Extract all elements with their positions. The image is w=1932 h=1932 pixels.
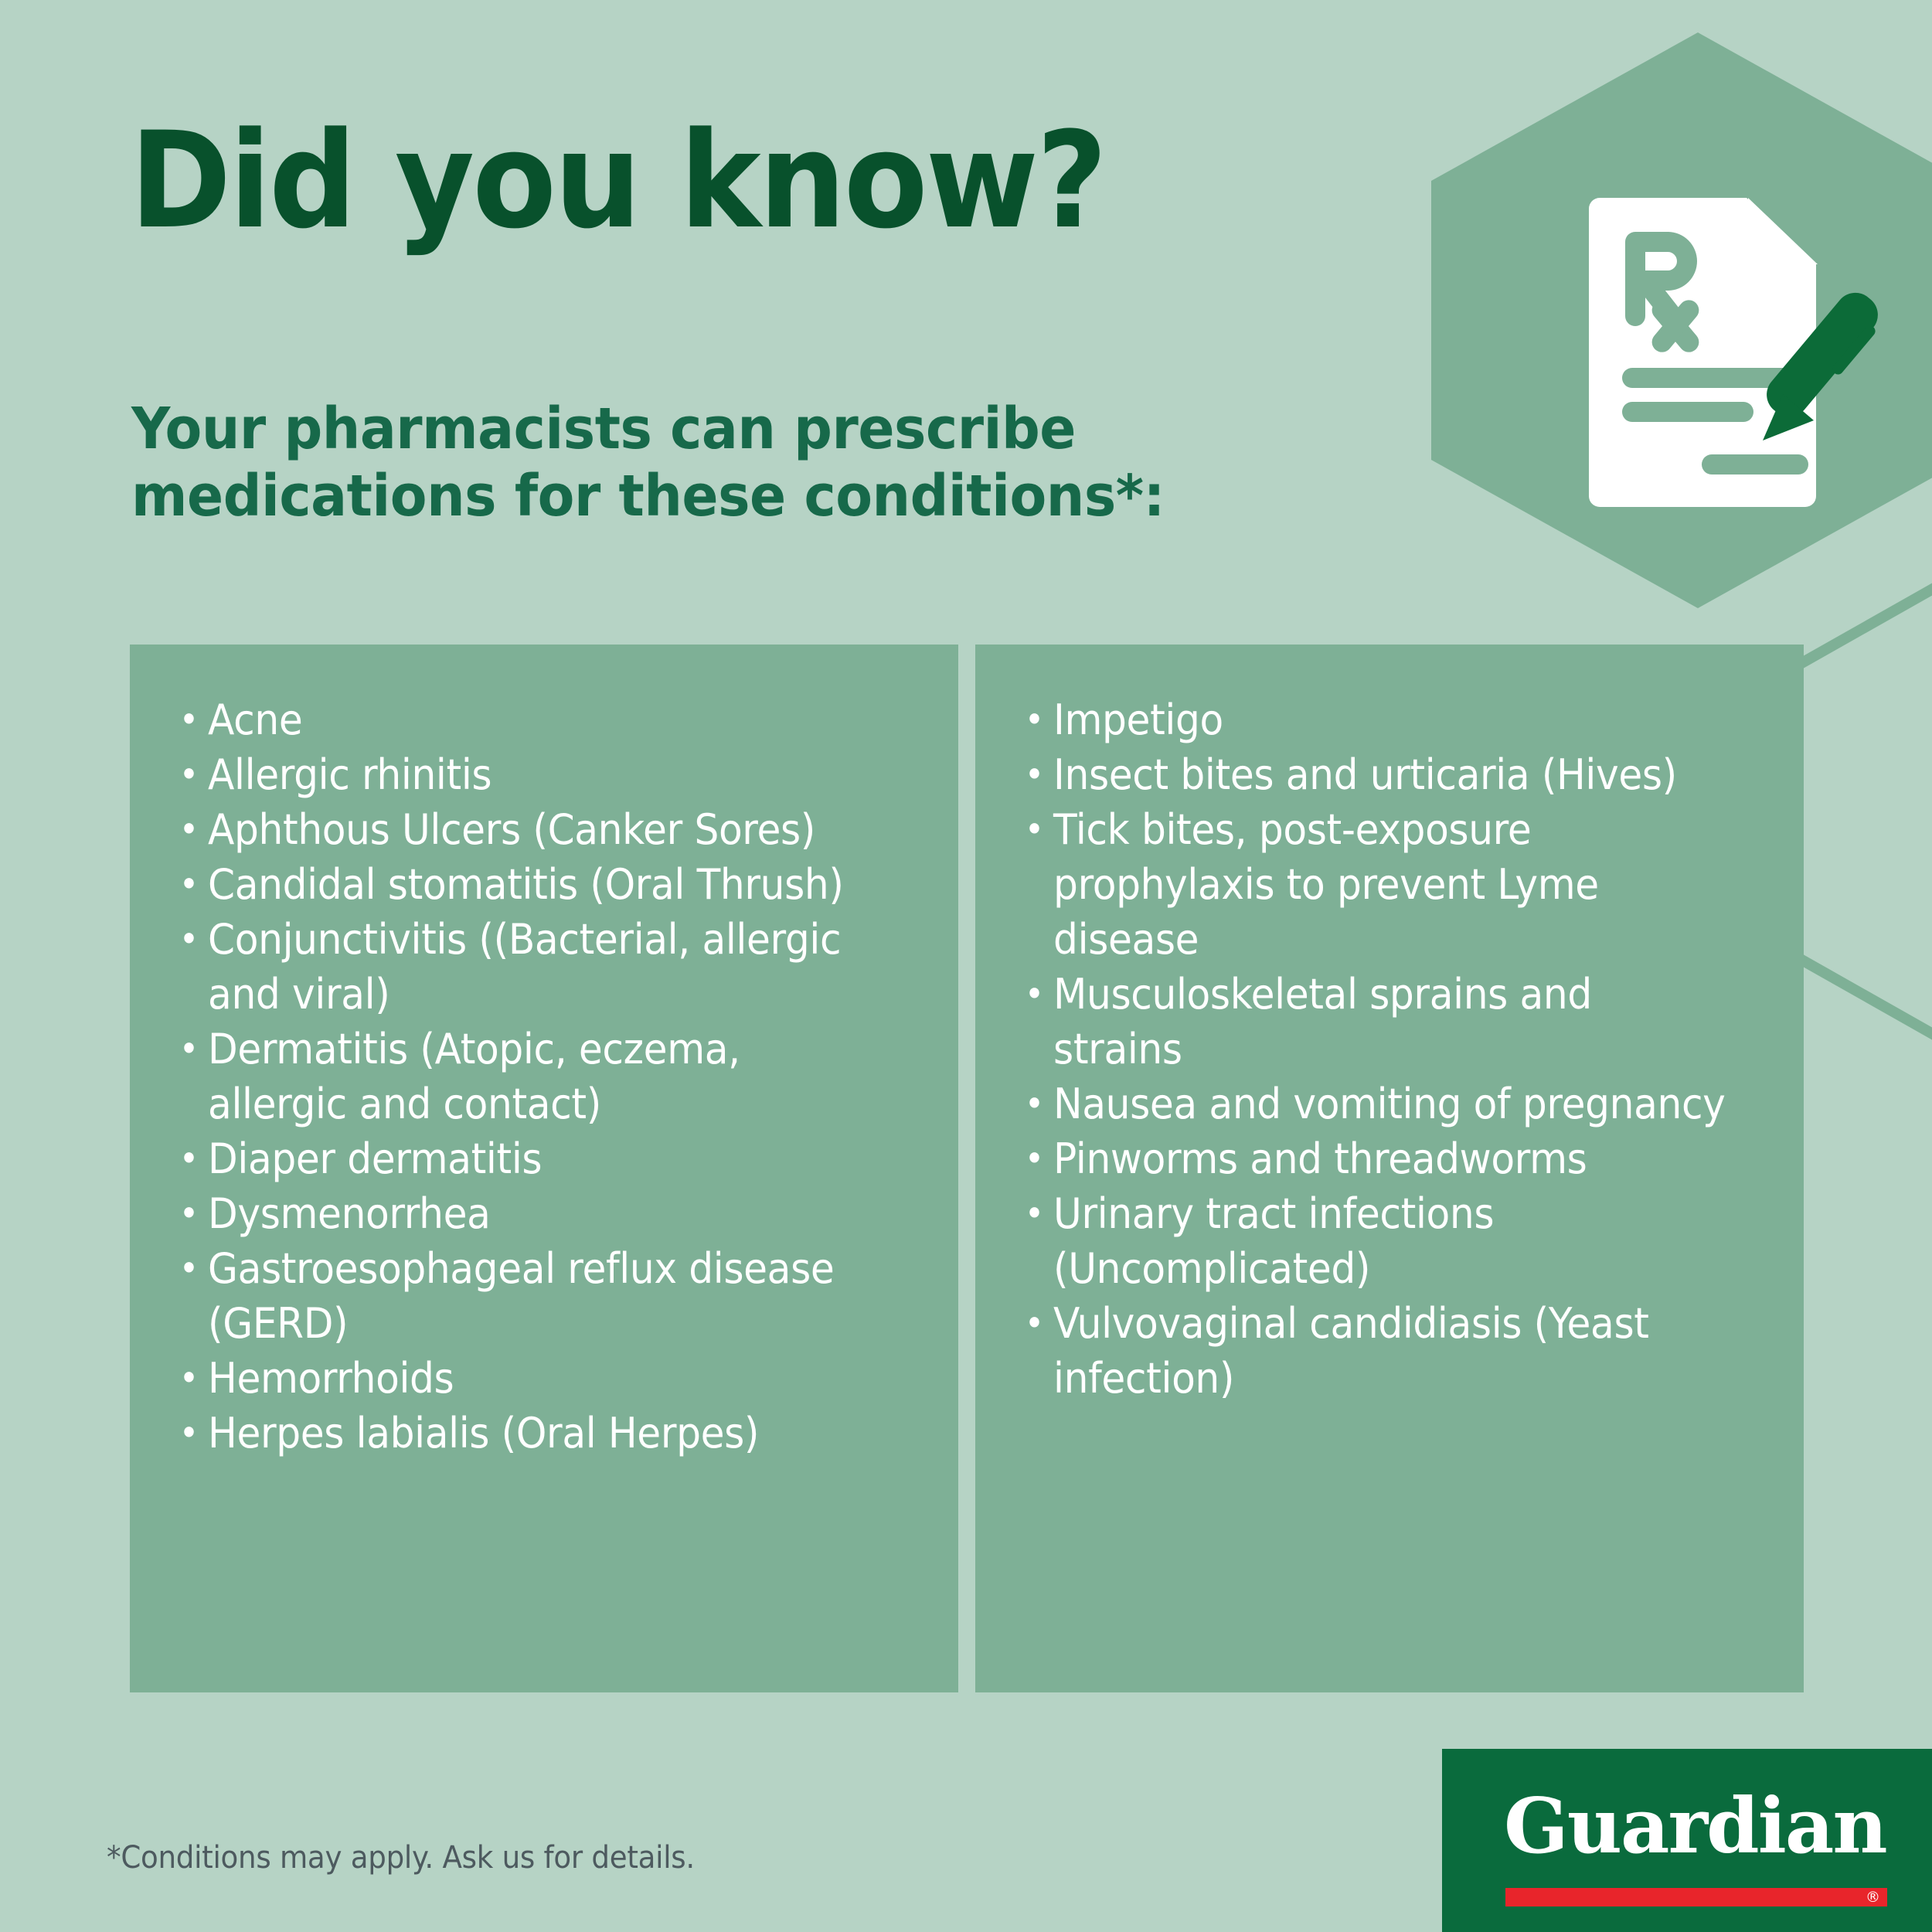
list-item: Dermatitis (Atopic, eczema, allergic and… [178, 1022, 875, 1131]
rx-r-leg [1640, 278, 1690, 335]
rx-r-stem [1625, 232, 1645, 326]
document-line-1 [1622, 368, 1806, 388]
pen-tip [1763, 394, 1814, 440]
document-shape [1589, 198, 1816, 507]
rx-x-stroke-1 [1648, 296, 1702, 356]
pen-icon [1758, 284, 1886, 440]
conditions-list-left: AcneAllergic rhinitisAphthous Ulcers (Ca… [178, 692, 927, 1461]
rx-x-stroke-2 [1648, 296, 1702, 356]
document-signature-line [1702, 454, 1808, 474]
document-line-2 [1622, 402, 1753, 422]
list-item: Hemorrhoids [178, 1351, 875, 1406]
list-item: Urinary tract infections (Uncomplicated) [1023, 1186, 1730, 1296]
pen-clip [1831, 324, 1878, 377]
page-subtitle: Your pharmacists can prescribe medicatio… [131, 396, 1264, 531]
list-item: Gastroesophageal reflux disease (GERD) [178, 1241, 875, 1351]
page-subtitle-line-2: medications for these conditions*: [131, 463, 1264, 530]
list-item: Acne [178, 692, 875, 747]
list-item: Conjunctivitis ((Bacterial, allergic and… [178, 912, 875, 1022]
list-item: Herpes labialis (Oral Herpes) [178, 1406, 875, 1461]
list-item: Pinworms and threadworms [1023, 1131, 1730, 1186]
footnote-text: *Conditions may apply. Ask us for detail… [107, 1840, 695, 1876]
list-item: Dysmenorrhea [178, 1186, 875, 1241]
list-item: Nausea and vomiting of pregnancy [1023, 1077, 1730, 1131]
page-subtitle-line-1: Your pharmacists can prescribe [131, 396, 1264, 463]
rx-r-bowl [1635, 232, 1697, 291]
conditions-panel-right: ImpetigoInsect bites and urticaria (Hive… [975, 645, 1804, 1692]
list-item: Diaper dermatitis [178, 1131, 875, 1186]
list-item: Candidal stomatitis (Oral Thrush) [178, 857, 875, 912]
page-title: Did you know? [130, 114, 1196, 247]
hexagon-badge-shape [1431, 32, 1932, 608]
conditions-panel-left: AcneAllergic rhinitisAphthous Ulcers (Ca… [130, 645, 958, 1692]
list-item: Impetigo [1023, 692, 1730, 747]
prescription-document-pen-icon [1431, 32, 1932, 608]
list-item: Tick bites, post-exposure prophylaxis to… [1023, 802, 1730, 967]
list-item: Vulvovaginal candidiasis (Yeast infectio… [1023, 1296, 1730, 1406]
conditions-list-right: ImpetigoInsect bites and urticaria (Hive… [1023, 692, 1784, 1406]
guardian-wordmark: Guardian [1504, 1789, 1886, 1865]
list-item: Insect bites and urticaria (Hives) [1023, 747, 1730, 802]
document-fold-corner [1748, 198, 1818, 264]
registered-trademark-icon: ® [1866, 1890, 1880, 1905]
guardian-logo-red-rule [1505, 1888, 1887, 1906]
list-item: Aphthous Ulcers (Canker Sores) [178, 802, 875, 857]
guardian-logo: Guardian ® [1442, 1749, 1932, 1932]
list-item: Allergic rhinitis [178, 747, 875, 802]
infographic-poster: Did you know? Your pharmacists can presc… [0, 0, 1932, 1932]
list-item: Musculoskeletal sprains and strains [1023, 967, 1730, 1077]
